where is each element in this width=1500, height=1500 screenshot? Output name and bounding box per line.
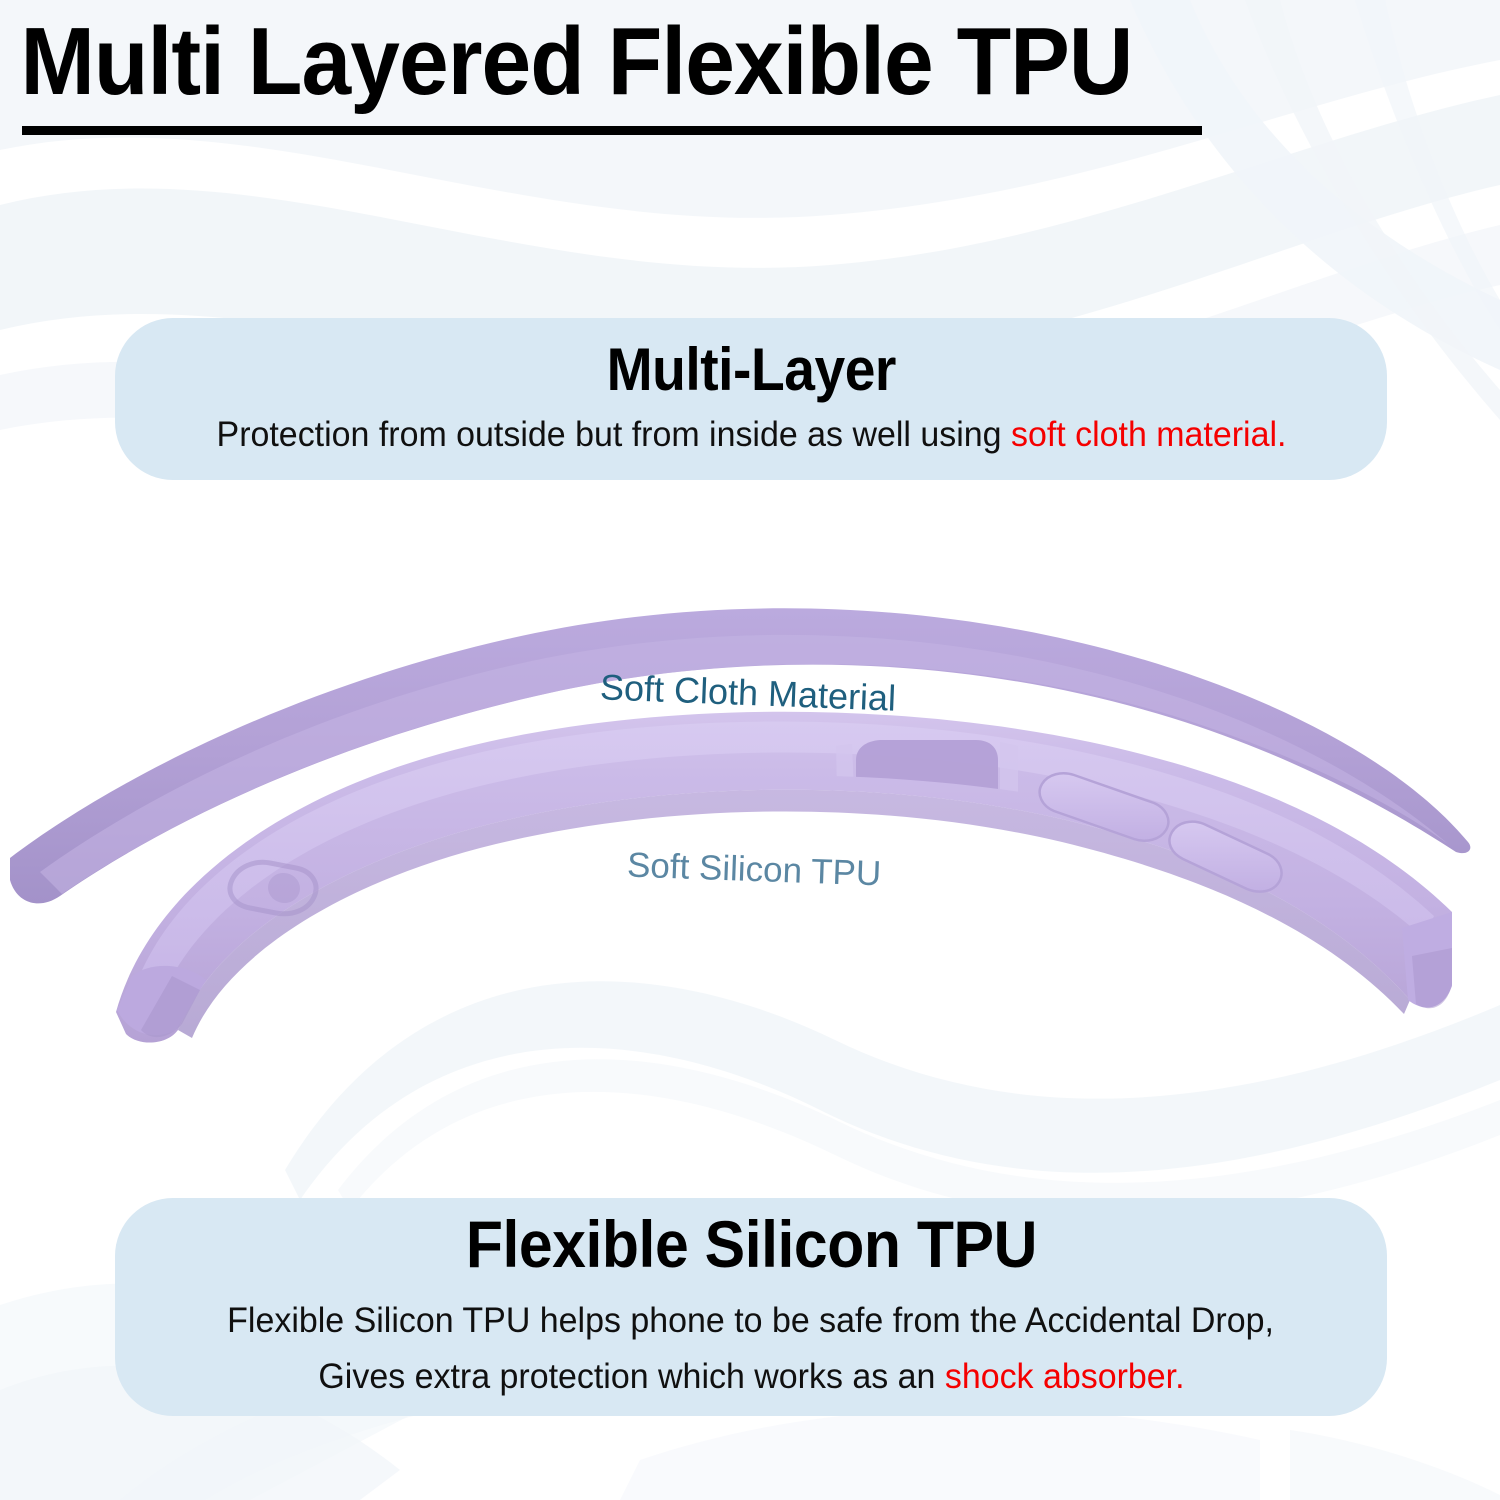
page-title: Multi Layered Flexible TPU bbox=[0, 8, 1395, 116]
description-text-plain: Gives extra protection which works as an bbox=[318, 1357, 944, 1396]
description-text-highlight: soft cloth material. bbox=[1010, 415, 1285, 454]
feature-card-description: Protection from outside but from inside … bbox=[216, 411, 1286, 459]
feature-card-multi-layer: Multi-Layer Protection from outside but … bbox=[115, 318, 1387, 480]
title-underline-rule bbox=[22, 126, 1202, 135]
feature-card-heading: Multi-Layer bbox=[606, 339, 895, 401]
description-text-plain: Protection from outside but from inside … bbox=[216, 415, 1010, 454]
feature-card-description-line-1: Flexible Silicon TPU helps phone to be s… bbox=[228, 1293, 1275, 1349]
feature-card-flexible-silicon-tpu: Flexible Silicon TPU Flexible Silicon TP… bbox=[115, 1198, 1387, 1416]
infographic-page: Multi Layered Flexible TPU Multi-Layer P… bbox=[0, 0, 1500, 1500]
phone-case-cross-section-illustration bbox=[0, 560, 1500, 1080]
case-right-end-cap bbox=[1402, 912, 1452, 1008]
description-text-highlight: shock absorber. bbox=[944, 1357, 1184, 1396]
description-text-plain: Flexible Silicon TPU helps phone to be s… bbox=[228, 1301, 1275, 1340]
feature-card-description-line-2: Gives extra protection which works as an… bbox=[318, 1349, 1184, 1405]
feature-card-heading: Flexible Silicon TPU bbox=[465, 1209, 1036, 1279]
page-title-block: Multi Layered Flexible TPU bbox=[0, 8, 1500, 135]
